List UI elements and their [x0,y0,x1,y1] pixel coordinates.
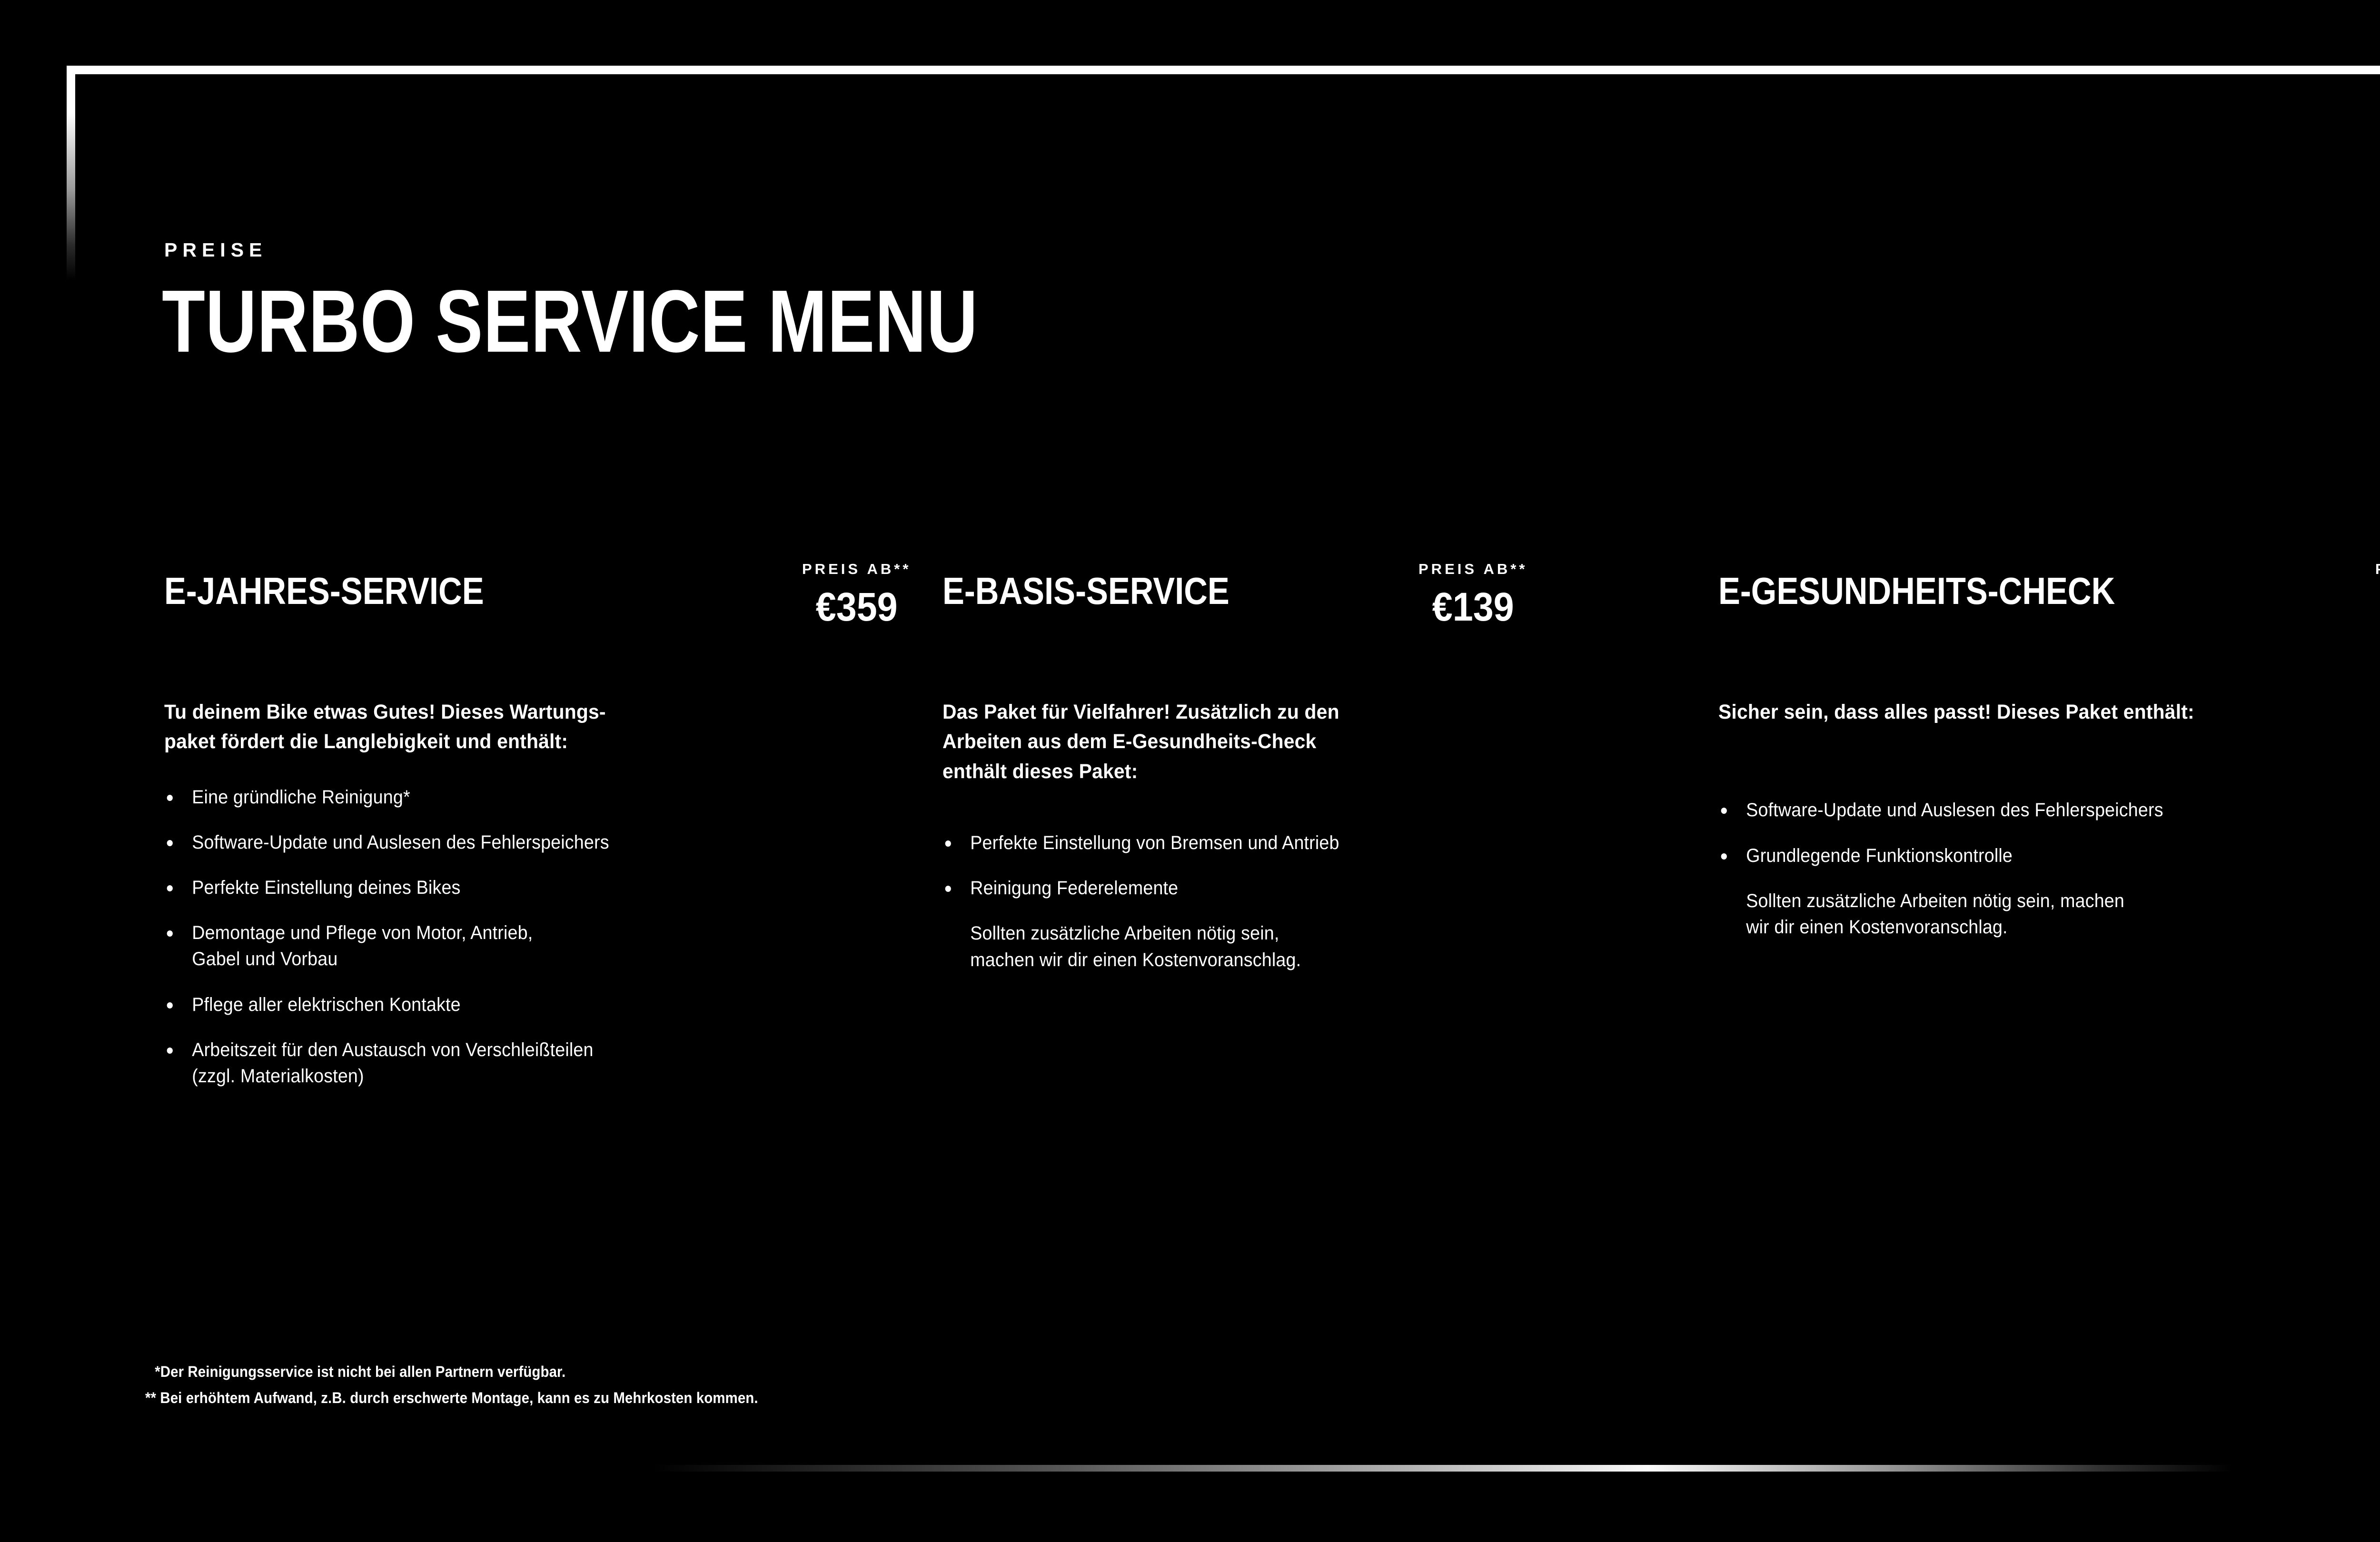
bullet-dot-icon [1721,853,1727,860]
bullet-dot-icon [167,1002,173,1008]
package-bullet-list: Perfekte Einstellung von Bremsen und Ant… [942,830,1685,901]
list-item: Reinigung Federelemente [942,875,1640,901]
bullet-dot-icon [167,930,173,937]
price-label: PREIS AB** [802,562,911,576]
package-intro: Tu deinem Bike etwas Gutes! Dieses Wartu… [164,697,788,757]
list-item-text: Arbeitszeit für den Austausch von Versch… [192,1039,593,1087]
package-header: E-GESUNDHEITS-CHECK PREIS AB** €89 [1718,562,2380,671]
package-title: E-JAHRES-SERVICE [164,572,484,610]
package-intro: Das Paket für Vielfahrer! Zusätzlich zu … [942,697,1521,786]
list-item-text: Perfekte Einstellung von Bremsen und Ant… [970,832,1339,853]
package-intro: Sicher sein, dass alles passt! Dieses Pa… [1718,697,2380,727]
list-item-text: Software-Update und Auslesen des Fehlers… [192,832,609,853]
list-item: Eine gründliche Reinigung* [164,784,889,811]
package-price-block: PREIS AB** €139 [1418,562,1527,627]
bullet-dot-icon [945,886,951,892]
list-item: Grundlegende Funktionskontrolle [1718,843,2380,869]
package-column-e-jahres-service: E-JAHRES-SERVICE PREIS AB** €359 Tu dein… [164,562,935,1108]
page-title: TURBO SERVICE MENU [162,280,978,364]
bottom-gradient-rule [652,1465,2232,1472]
list-item-text: Perfekte Einstellung deines Bikes [192,877,460,898]
package-header: E-JAHRES-SERVICE PREIS AB** €359 [164,562,935,671]
list-item-text: Reinigung Federelemente [970,878,1178,899]
list-item: Pflege aller elektrischen Kontakte [164,992,889,1018]
list-item: Perfekte Einstellung deines Bikes [164,875,889,901]
list-item-text: Pflege aller elektrischen Kontakte [192,994,460,1015]
price-value: €359 [806,587,907,627]
bullet-dot-icon [167,795,173,801]
package-title: E-GESUNDHEITS-CHECK [1718,572,2115,610]
bullet-dot-icon [945,840,951,847]
package-columns: E-JAHRES-SERVICE PREIS AB** €359 Tu dein… [0,562,2380,1371]
price-label: PREIS AB** [2375,562,2380,576]
list-item: Software-Update und Auslesen des Fehlers… [164,830,889,856]
package-note: Sollten zusätzliche Arbeiten nötig sein,… [942,920,1640,973]
package-column-e-gesundheits-check: E-GESUNDHEITS-CHECK PREIS AB** €89 Siche… [1718,562,2380,940]
package-note: Sollten zusätzliche Arbeiten nötig sein,… [1718,888,2380,940]
bullet-dot-icon [167,840,173,846]
package-column-e-basis-service: E-BASIS-SERVICE PREIS AB** €139 Das Pake… [942,562,1685,973]
footnote-single-asterisk: *Der Reinigungsservice ist nicht bei all… [145,1359,1459,1385]
list-item-text: Eine gründliche Reinigung* [192,787,410,808]
frame-top-rule [67,66,2380,74]
price-value: €139 [1423,587,1523,627]
package-bullet-list: Software-Update und Auslesen des Fehlers… [1718,797,2380,869]
footnotes: *Der Reinigungsservice ist nicht bei all… [145,1359,1573,1411]
list-item-text: Software-Update und Auslesen des Fehlers… [1746,800,2163,820]
list-item: Demontage und Pflege von Motor, Antrieb,… [164,920,889,972]
price-label: PREIS AB** [1418,562,1527,576]
bullet-dot-icon [1721,808,1727,814]
page-kicker: PREISE [164,240,267,260]
package-price-block: PREIS AB** €359 [802,562,911,627]
package-title: E-BASIS-SERVICE [942,572,1230,610]
frame-left-rule [67,66,75,280]
list-item: Perfekte Einstellung von Bremsen und Ant… [942,830,1640,856]
list-item: Arbeitszeit für den Austausch von Versch… [164,1037,889,1089]
package-header: E-BASIS-SERVICE PREIS AB** €139 [942,562,1685,671]
turbo-service-menu-page: PREISE TURBO SERVICE MENU E-JAHRES-SERVI… [0,0,2380,1542]
bullet-dot-icon [167,885,173,891]
package-price-block: PREIS AB** €89 [2375,562,2380,627]
list-item-text: Demontage und Pflege von Motor, Antrieb,… [192,922,533,969]
footnote-double-asterisk: ** Bei erhöhtem Aufwand, z.B. durch ersc… [145,1385,1459,1411]
bullet-dot-icon [167,1048,173,1054]
package-bullet-list: Eine gründliche Reinigung* Software-Upda… [164,784,935,1090]
list-item: Software-Update und Auslesen des Fehlers… [1718,797,2380,823]
list-item-text: Grundlegende Funktionskontrolle [1746,845,2013,866]
